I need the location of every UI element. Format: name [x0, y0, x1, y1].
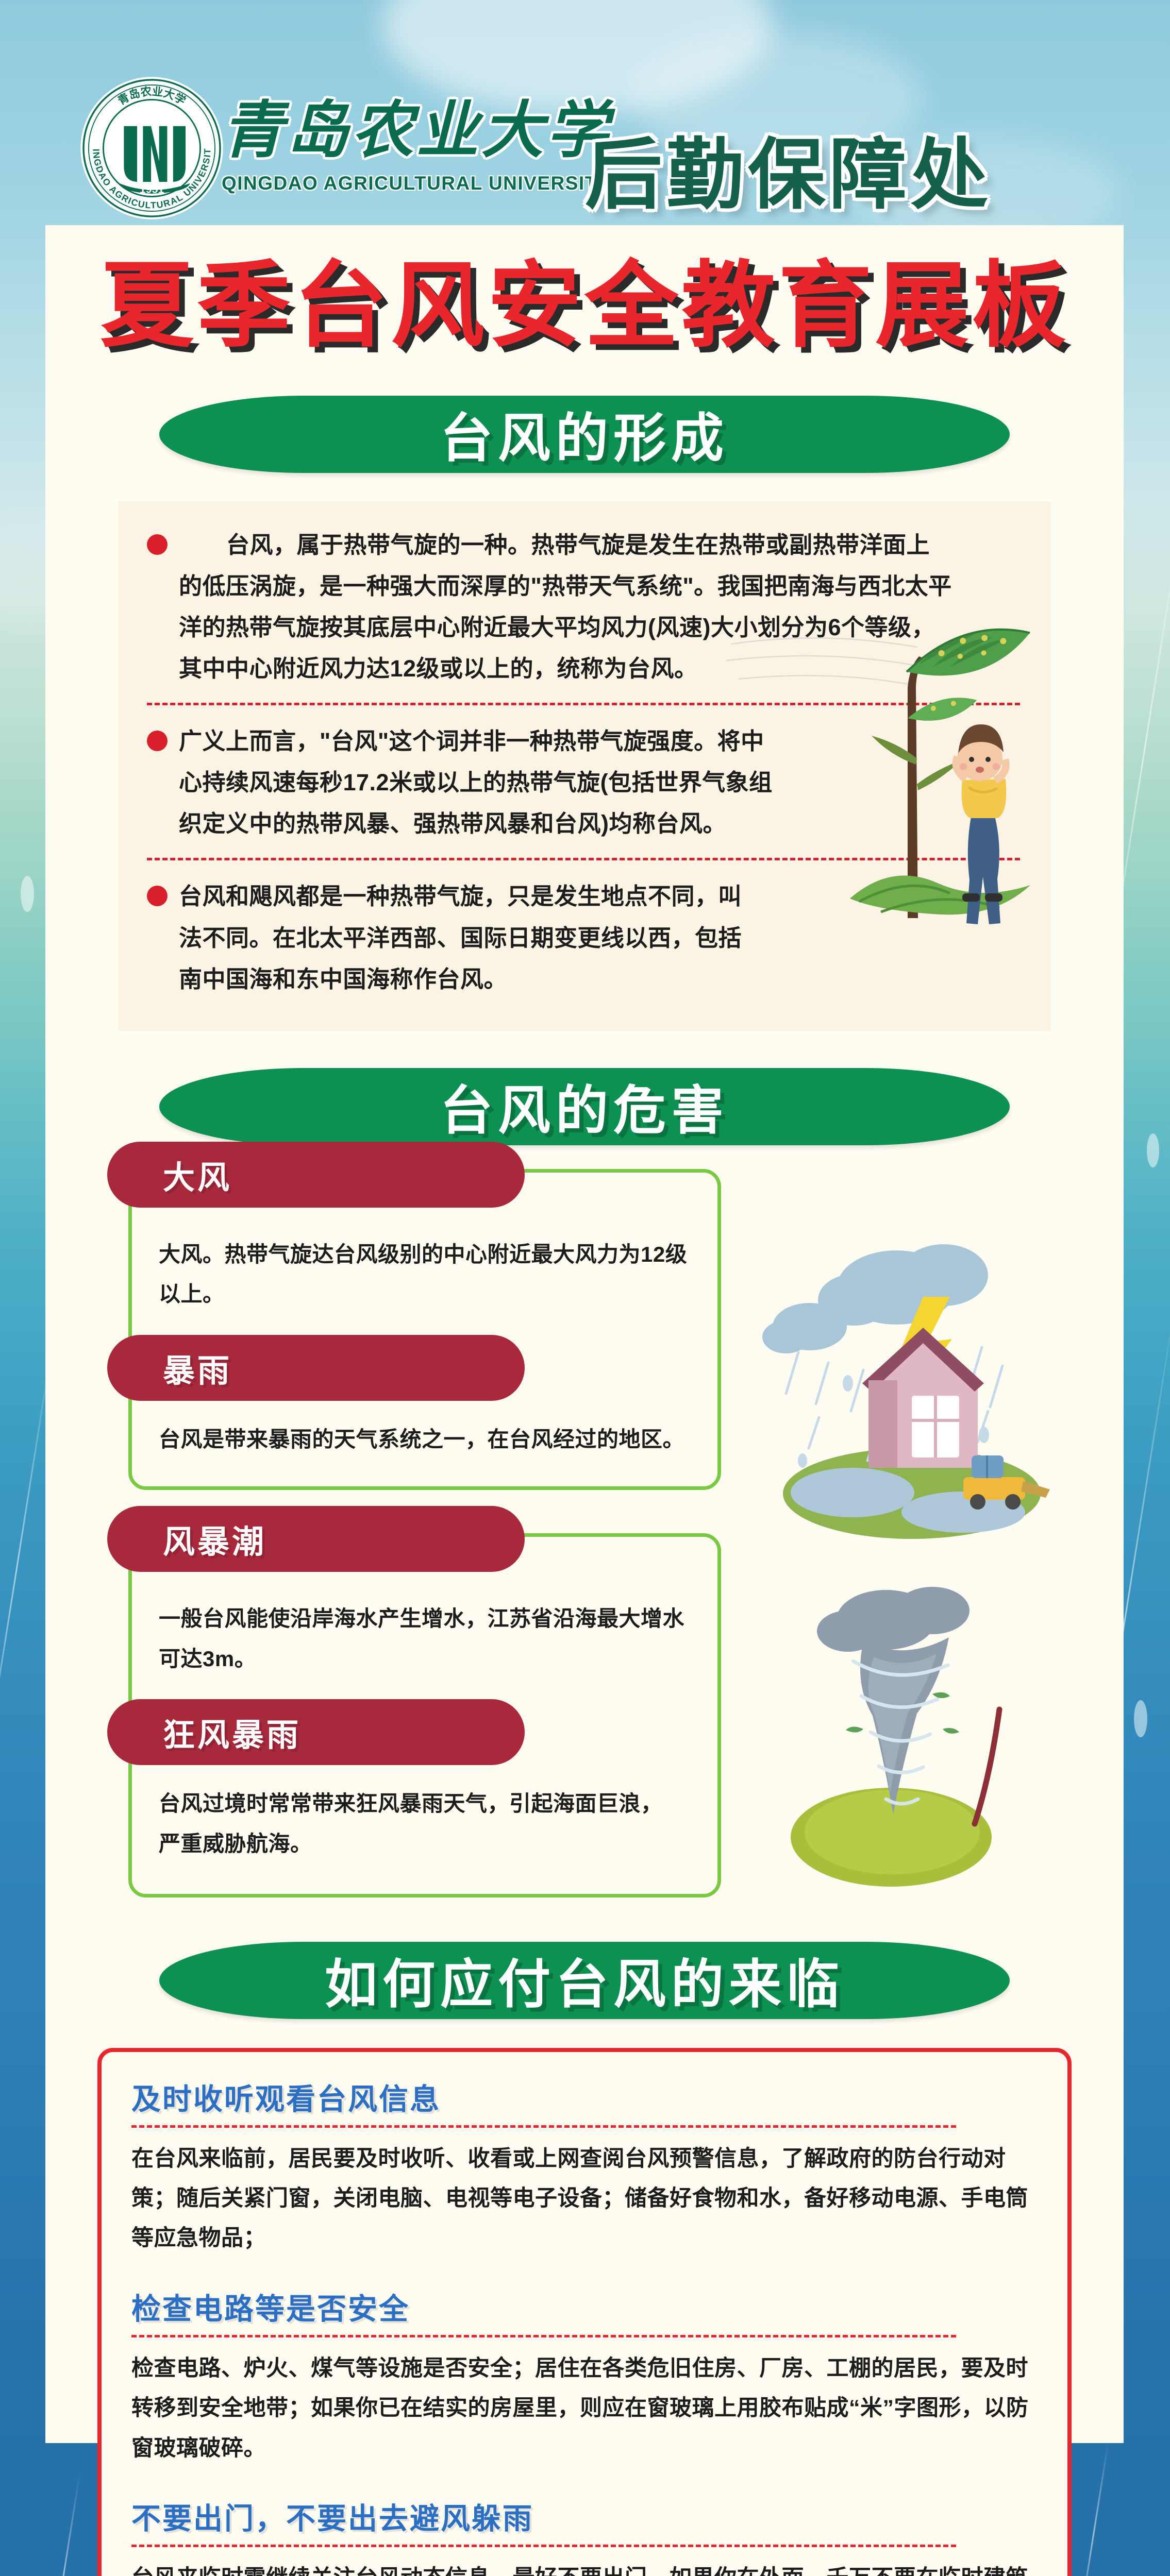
response-heading-1: 及时收听观看台风信息 [131, 2076, 1038, 2118]
hazard-card-1: 大风 大风。热带气旋达台风级别的中心附近最大风力为12级以上。 暴雨 台风是带来… [128, 1169, 721, 1490]
formation-bullet-2-text: 广义上而言，"台风"这个词并非一种热带气旋强度。将中心持续风速每秒17.2米或以… [179, 721, 777, 844]
hazard-label-dafeng: 大风 [107, 1142, 525, 1208]
response-item-2: 检查电路等是否安全 检查电路、炉火、煤气等设施是否安全；居住在各类危旧住房、厂房… [131, 2285, 1038, 2468]
divider-dashed [147, 858, 1020, 860]
formation-content-box: 台风，属于热带气旋的一种。热带气旋是发生在热带或副热带洋面上的低压涡旋，是一种强… [118, 502, 1051, 1031]
response-body-1: 在台风来临前，居民要及时收听、收看或上网查阅台风预警信息，了解政府的防台行动对策… [131, 2139, 1038, 2259]
formation-bullet-3-text: 台风和飓风都是一种热带气旋，只是发生地点不同，叫法不同。在北太平洋西部、国际日期… [179, 876, 761, 999]
section-formation: 台风的形成 [45, 396, 1124, 1031]
formation-bullet-1-text: 台风，属于热带气旋的一种。热带气旋是发生在热带或副热带洋面上的低压涡旋，是一种强… [179, 524, 952, 689]
bullet-dot-icon [147, 731, 168, 751]
university-name-cn: 青岛农业大学 [222, 80, 634, 170]
hazard-label-text: 风暴潮 [163, 1516, 266, 1562]
section-header-hazards: 台风的危害 [159, 1068, 1010, 1145]
hazard-label-text: 大风 [163, 1151, 232, 1198]
tornado-illustration [762, 1574, 1051, 1894]
divider-dashed [131, 2335, 956, 2337]
spacer [159, 1765, 697, 1784]
formation-bullet-1: 台风，属于热带气旋的一种。热带气旋是发生在热带或副热带洋面上的低压涡旋，是一种强… [147, 524, 1022, 689]
hazard-body-fengbaochao: 一般台风能使沿岸海水产生增水，江苏省沿海最大增水可达3m。 [159, 1599, 697, 1679]
raindrop [1134, 1700, 1147, 1737]
section-header-formation: 台风的形成 [159, 396, 1010, 473]
storm-house-rain-illustration [742, 1226, 1072, 1555]
formation-bullet-2: 广义上而言，"台风"这个词并非一种热带气旋强度。将中心持续风速每秒17.2米或以… [147, 721, 1022, 844]
university-name-en: QINGDAO AGRICULTURAL UNIVERSITY [222, 173, 634, 194]
raindrop [1147, 1133, 1159, 1167]
hazard-body-baoyu: 台风是带来暴雨的天气系统之一，在台风经过的地区。 [159, 1419, 697, 1460]
university-name-block: 青岛农业大学 QINGDAO AGRICULTURAL UNIVERSITY [222, 80, 634, 198]
spacer [159, 1401, 697, 1419]
section-hazards: 台风的危害 [45, 1068, 1124, 1897]
hazard-label-text: 狂风暴雨 [163, 1709, 301, 1755]
divider-dashed [147, 703, 1020, 705]
section-header-response: 如何应付台风的来临 [159, 1942, 1010, 2019]
raindrop [21, 876, 34, 912]
hazard-card-2: 风暴潮 一般台风能使沿岸海水产生增水，江苏省沿海最大增水可达3m。 狂风暴雨 台… [128, 1533, 721, 1897]
bottom-rain-band [0, 2443, 1170, 2576]
hazard-label-text: 暴雨 [163, 1345, 232, 1391]
hazard-label-kuangfengbaoyu: 狂风暴雨 [107, 1699, 525, 1765]
response-item-1: 及时收听观看台风信息 在台风来临前，居民要及时收听、收看或上网查阅台风预警信息，… [131, 2076, 1038, 2259]
section-title-response: 如何应付台风的来临 [325, 1942, 844, 2018]
section-title-formation: 台风的形成 [440, 396, 729, 472]
hazard-label-baoyu: 暴雨 [107, 1335, 525, 1401]
university-seal-logo: 1951 青岛农业大学 QINGDAO AGRICULTURAL UNIVERS… [78, 75, 225, 222]
divider-dashed [131, 2125, 956, 2128]
hazard-body-dafeng: 大风。热带气旋达台风级别的中心附近最大风力为12级以上。 [159, 1234, 697, 1314]
formation-bullet-3: 台风和飓风都是一种热带气旋，只是发生地点不同，叫法不同。在北太平洋西部、国际日期… [147, 876, 1022, 999]
response-heading-2: 检查电路等是否安全 [131, 2285, 1038, 2328]
section-title-hazards: 台风的危害 [440, 1069, 729, 1144]
hazard-card-2-wrap: 风暴潮 一般台风能使沿岸海水产生增水，江苏省沿海最大增水可达3m。 狂风暴雨 台… [97, 1533, 1072, 1897]
poster-root: 1951 青岛农业大学 QINGDAO AGRICULTURAL UNIVERS… [0, 0, 1170, 2576]
hazard-label-fengbaochao: 风暴潮 [107, 1506, 525, 1572]
bullet-dot-icon [147, 886, 168, 906]
hazard-body-kuangfengbaoyu: 台风过境时常常带来狂风暴雨天气，引起海面巨浪，严重威胁航海。 [159, 1784, 679, 1863]
poster-header: 1951 青岛农业大学 QINGDAO AGRICULTURAL UNIVERS… [0, 0, 1170, 225]
department-name: 后勤保障处 [585, 112, 992, 224]
page-title: 夏季台风安全教育展板 [45, 253, 1124, 359]
svg-text:1951: 1951 [140, 183, 164, 195]
bullet-dot-icon [147, 534, 168, 555]
hazard-card-1-wrap: 大风 大风。热带气旋达台风级别的中心附近最大风力为12级以上。 暴雨 台风是带来… [97, 1169, 1072, 1490]
content-panel: 夏季台风安全教育展板 台风的形成 [45, 225, 1124, 2443]
